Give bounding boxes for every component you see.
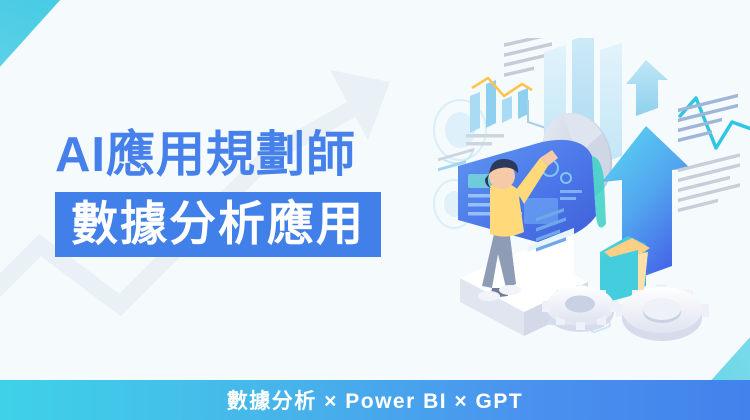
bar-chart-small <box>466 78 532 146</box>
small-up-arrow-icon <box>626 60 668 116</box>
headline-block: AI應用規劃師 數據分析應用 <box>55 128 381 257</box>
text-lines-right <box>678 94 740 212</box>
line-chart-cyan <box>680 98 750 148</box>
footer-tagline: 數據分析 × Power BI × GPT <box>227 385 523 415</box>
page-title: AI應用規劃師 <box>55 128 381 183</box>
course-banner: AI應用規劃師 數據分析應用 數據分析 × Power BI × GPT <box>0 0 750 420</box>
subtitle-highlight-box: 數據分析應用 <box>55 192 381 257</box>
isometric-data-analyst-illustration <box>432 38 750 368</box>
curved-dashboard <box>458 140 606 244</box>
page-subtitle: 數據分析應用 <box>71 199 365 248</box>
footer-bar: 數據分析 × Power BI × GPT <box>0 380 750 420</box>
